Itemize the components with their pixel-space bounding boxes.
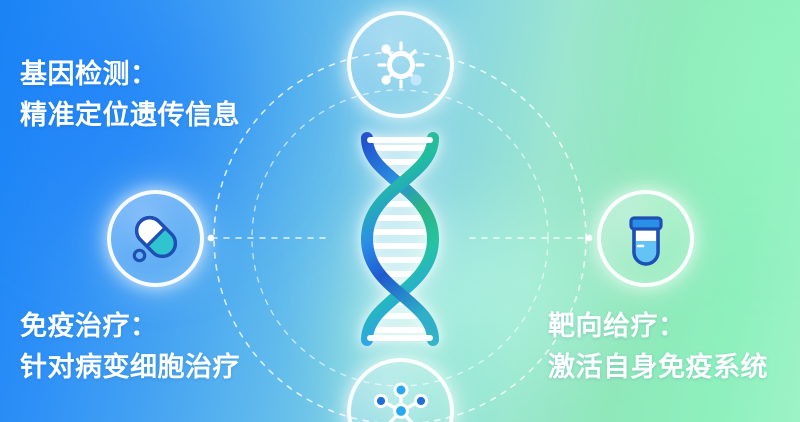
caption-targeted-title: 靶向给疗： [548, 306, 768, 347]
molecule-network-icon [366, 377, 436, 422]
connector-dot-left [208, 235, 215, 242]
caption-immune-subtitle: 针对病变细胞治疗 [20, 347, 240, 388]
caption-targeted-therapy: 靶向给疗： 激活自身免疫系统 [548, 306, 768, 388]
caption-immune-title: 免疫治疗： [20, 306, 240, 347]
caption-gene-detection: 基因检测： 精准定位遗传信息 [20, 54, 240, 136]
caption-immunotherapy: 免疫治疗： 针对病变细胞治疗 [20, 306, 240, 388]
badge-immunotherapy[interactable] [107, 190, 204, 287]
caption-gene-title: 基因检测： [20, 54, 240, 95]
capsule-pill-icon [127, 210, 185, 268]
caption-gene-subtitle: 精准定位遗传信息 [20, 95, 240, 136]
connector-dot-right [586, 235, 593, 242]
dna-rungs [372, 148, 428, 330]
badge-targeted-therapy[interactable] [597, 190, 694, 287]
poster-canvas: 基因检测： 精准定位遗传信息 免疫治疗： 针对病变细胞治疗 靶向给疗： 激活自身… [0, 0, 800, 422]
radiating-cell-icon [370, 34, 432, 96]
dna-double-helix-icon [345, 126, 455, 352]
test-tube-icon [618, 211, 674, 267]
caption-targeted-subtitle: 激活自身免疫系统 [548, 347, 768, 388]
badge-gene-detection[interactable] [347, 11, 454, 118]
